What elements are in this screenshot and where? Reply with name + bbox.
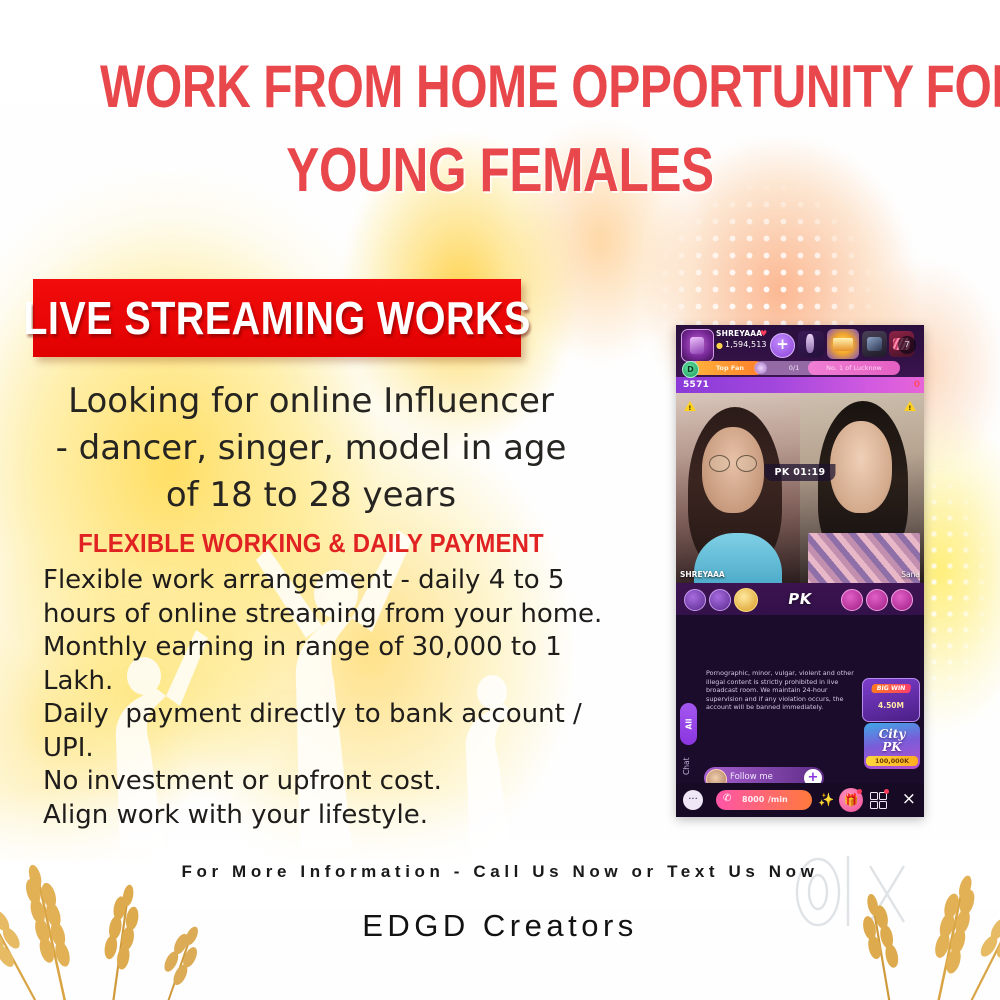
pk-supporter-left-2[interactable]: [709, 589, 731, 611]
pk-ranking-strip: PK: [676, 583, 924, 615]
sparkle-gift-icon[interactable]: ✨: [818, 793, 834, 808]
badge-row: D Top Fan 0/1 No. 1 of Lucknow: [676, 359, 924, 377]
stream-bottom-bar: ··· ✆ 8000 /min ✨ 🎁 ×: [676, 783, 924, 817]
pk-timer: PK 01:19: [764, 464, 835, 481]
video-pane-left[interactable]: SHREYAAA: [676, 393, 800, 583]
intro-line-3: of 18 to 28 years: [36, 472, 586, 519]
broadcast-policy-notice: Pornographic, minor, vulgar, violent and…: [706, 669, 854, 712]
pk-supporter-right-1[interactable]: [841, 589, 863, 611]
left-streamer-face: [702, 427, 764, 513]
intro-line-1: Looking for online Influencer: [36, 378, 586, 425]
poster-headline: WORK FROM HOME OPPORTUNITY FOR YOUNG FEM…: [0, 56, 1000, 202]
pk-supporter-left-3[interactable]: [734, 588, 758, 612]
footer-contact-line: For More Information - Call Us Now or Te…: [0, 862, 1000, 882]
big-win-promo[interactable]: BIG WIN 4.50M: [862, 678, 920, 722]
viewer-thumb-1[interactable]: [798, 331, 824, 357]
chat-filter-all[interactable]: All: [680, 703, 697, 745]
city-pk-amount: 100,000K: [866, 756, 918, 766]
glasses-icon: [709, 455, 757, 470]
banner-label: LIVE STREAMING WORKS: [23, 291, 531, 345]
viewer-thumb-2[interactable]: [862, 331, 887, 357]
call-unit-label: /min: [768, 795, 788, 804]
pk-supporter-right-3[interactable]: [891, 589, 913, 611]
follow-me-label: Follow me: [730, 772, 773, 782]
intro-line-2: - dancer, singer, model in age: [36, 425, 586, 472]
big-win-label: BIG WIN: [871, 684, 911, 693]
top-fan-badge[interactable]: Top Fan: [692, 361, 763, 375]
pk-score-left: 5571: [683, 380, 709, 390]
coin-icon: ●: [716, 341, 723, 350]
level-badge[interactable]: D: [682, 361, 699, 378]
rank-badge[interactable]: No. 1 of Lucknow: [808, 361, 900, 375]
body-line: Monthly earning in range of 30,000 to 1: [43, 631, 618, 665]
warning-icon: [904, 401, 916, 411]
chat-filter-all-label: All: [684, 719, 693, 730]
message-icon[interactable]: ···: [683, 790, 703, 810]
chat-tab-label[interactable]: Chat: [682, 757, 691, 775]
streamer-avatar[interactable]: [681, 329, 714, 362]
pk-label: PK: [787, 590, 813, 608]
pk-video-area: SHREYAAA Sana PK 01:19: [676, 393, 924, 583]
streamer-username: SHREYAAA: [716, 329, 762, 338]
pk-supporter-right-2[interactable]: [866, 589, 888, 611]
body-line: Flexible work arrangement - daily 4 to 5: [43, 564, 618, 598]
coin-count: 1,594,513: [725, 340, 767, 349]
gift-icon[interactable]: 🎁: [839, 788, 863, 812]
intro-block: Looking for online Influencer - dancer, …: [36, 378, 586, 519]
pk-score-right: 0: [914, 380, 920, 390]
video-pane-right[interactable]: Sana: [800, 393, 924, 583]
city-pk-promo[interactable]: City PK 100,000K: [864, 723, 920, 769]
phone-icon: ✆: [723, 793, 731, 804]
city-pk-line-2: PK: [864, 740, 920, 754]
body-line: Lakh.: [43, 665, 618, 699]
right-pane-name: Sana: [901, 570, 920, 579]
live-streaming-banner: LIVE STREAMING WORKS: [33, 279, 521, 357]
sub-heading: FLEXIBLE WORKING & DAILY PAYMENT: [58, 528, 564, 559]
live-stream-app-screenshot: SHREYAAA ♥ ● 1,594,513 + 7 D Top Fan 0/1…: [676, 325, 924, 817]
body-line: UPI.: [43, 732, 618, 766]
body-copy-block: Flexible work arrangement - daily 4 to 5…: [43, 564, 618, 832]
apps-grid-icon[interactable]: [870, 792, 886, 808]
left-pane-name: SHREYAAA: [680, 570, 725, 579]
body-line: No investment or upfront cost.: [43, 765, 618, 799]
headline-line-2: YOUNG FEMALES: [100, 140, 900, 202]
warning-icon: [684, 401, 696, 411]
body-line: Daily payment directly to bank account /: [43, 698, 618, 732]
viewer-count-badge[interactable]: 7: [898, 336, 916, 354]
video-call-button[interactable]: ✆ 8000 /min: [716, 790, 812, 810]
heart-icon: ♥: [760, 329, 767, 338]
brand-name: EDGD Creators: [0, 908, 1000, 944]
body-line: hours of online streaming from your home…: [43, 598, 618, 632]
big-win-value: 4.50M: [863, 701, 919, 710]
poster-canvas: WORK FROM HOME OPPORTUNITY FOR YOUNG FEM…: [0, 0, 1000, 1000]
city-pk-line-1: City: [864, 727, 920, 741]
headline-line-1: WORK FROM HOME OPPORTUNITY FOR: [100, 56, 900, 118]
top-gifter-crown-icon[interactable]: [827, 329, 859, 359]
pk-supporter-left-1[interactable]: [684, 589, 706, 611]
close-icon[interactable]: ×: [902, 789, 916, 809]
right-streamer-face: [830, 421, 892, 513]
follow-add-button[interactable]: +: [770, 333, 795, 358]
pk-score-bar: 5571 0: [676, 377, 924, 393]
call-rate-label: 8000: [742, 795, 764, 804]
